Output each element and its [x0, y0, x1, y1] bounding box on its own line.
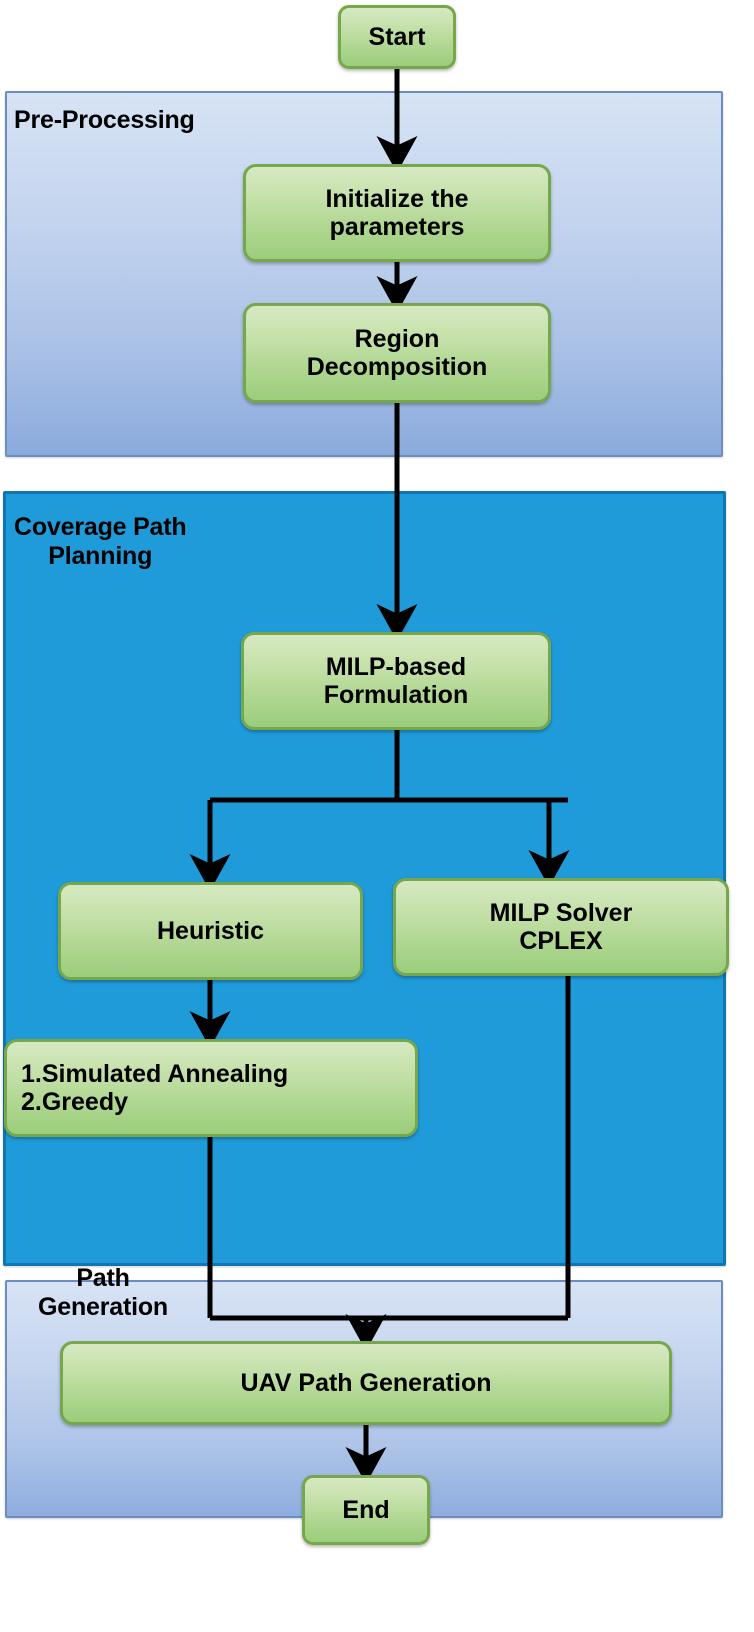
node-end[interactable]: End: [302, 1475, 430, 1545]
node-region-decomposition[interactable]: Region Decomposition: [243, 303, 551, 403]
phase-label-coverage-path-planning: Coverage Path Planning: [14, 513, 186, 571]
node-heuristic[interactable]: Heuristic: [58, 882, 363, 980]
node-start[interactable]: Start: [338, 5, 456, 69]
node-simulated-annealing-greedy[interactable]: 1.Simulated Annealing 2.Greedy: [4, 1039, 418, 1137]
node-milp-based-formulation[interactable]: MILP-based Formulation: [241, 632, 551, 730]
node-milp-solver-cplex[interactable]: MILP Solver CPLEX: [393, 878, 729, 976]
flowchart-canvas: Pre-Processing Coverage Path Planning Pa…: [0, 0, 754, 1632]
node-uav-path-generation[interactable]: UAV Path Generation: [60, 1341, 672, 1425]
phase-label-pre-processing: Pre-Processing: [14, 106, 195, 135]
node-initialize-the-parameters[interactable]: Initialize the parameters: [243, 164, 551, 262]
phase-label-path-generation: Path Generation: [8, 1264, 198, 1322]
